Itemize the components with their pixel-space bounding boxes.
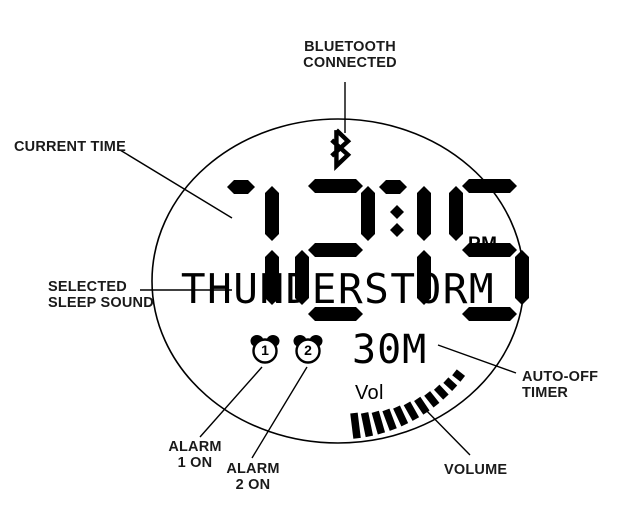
lcd-text-layer: PM Vol 1 2 [0,0,630,525]
meridiem-indicator: PM [468,234,498,256]
diagram-canvas: THUNDERSTORM 30M [0,0,630,525]
callout-bluetooth-connected: BLUETOOTH CONNECTED [295,40,405,71]
callout-auto-off-timer: AUTO-OFF TIMER [522,370,630,401]
callout-current-time: CURRENT TIME [14,140,134,156]
volume-label: Vol [355,382,384,405]
alarm-1-number: 1 [254,342,276,358]
callout-volume: VOLUME [444,463,540,479]
callout-alarm-2-on: ALARM 2 ON [208,462,298,493]
callout-selected-sleep-sound: SELECTED SLEEP SOUND [48,280,168,311]
alarm-2-number: 2 [297,342,319,358]
